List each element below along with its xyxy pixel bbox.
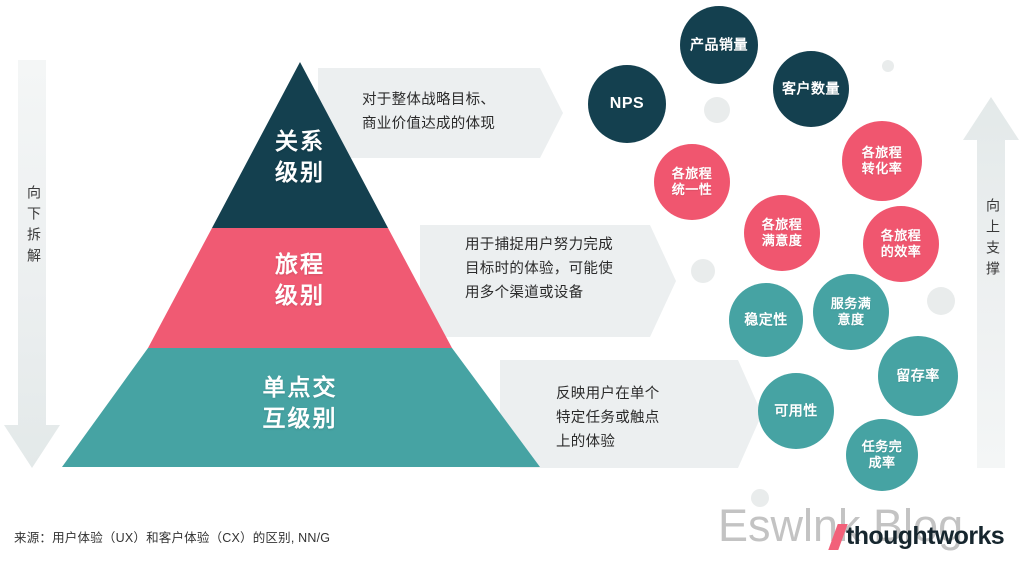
metric-bubble[interactable] [773,51,849,127]
downward-decomposition-arrow-label: 向下拆解 [24,185,44,269]
metric-bubble[interactable] [654,144,730,220]
decorative-circle [704,97,730,123]
metric-bubble[interactable] [744,195,820,271]
decorative-circle [691,259,715,283]
upward-support-arrow [963,97,1019,468]
callout-text-journey: 用于捕捉用户努力完成 目标时的体验，可能使 用多个渠道或设备 [465,234,613,306]
source-note: 来源：用户体验（UX）和客户体验（CX）的区别, NN/G [14,527,330,546]
metric-bubble[interactable] [842,121,922,201]
metric-bubble[interactable] [813,274,889,350]
decorative-circle [927,287,955,315]
pyramid-tier-label-relationship: 关系 级别 [246,126,354,188]
callout-text-interaction: 反映用户在单个 特定任务或触点 上的体验 [556,383,660,455]
thoughtworks-logo: thoughtworks [833,522,1004,551]
callout-text-relationship: 对于整体战略目标、 商业价值达成的体现 [362,89,495,137]
metric-bubble[interactable] [729,283,803,357]
metric-bubble[interactable] [863,206,939,282]
metric-bubble[interactable] [680,6,758,84]
pyramid-tier-label-journey: 旅程 级别 [246,249,354,311]
metric-bubble[interactable] [846,419,918,491]
diagram-canvas: 向下拆解 向上支撑 关系 级别 旅程 级别 单点交 互级别 对于整体战略目标、 … [0,0,1024,576]
metric-bubble[interactable] [758,373,834,449]
upward-support-arrow-label: 向上支撑 [983,198,1003,282]
pyramid-tier-label-interaction: 单点交 互级别 [232,372,368,434]
metric-bubble[interactable] [588,65,666,143]
decorative-circle [882,60,894,72]
thoughtworks-wordmark: thoughtworks [846,522,1004,551]
metric-bubble[interactable] [878,336,958,416]
